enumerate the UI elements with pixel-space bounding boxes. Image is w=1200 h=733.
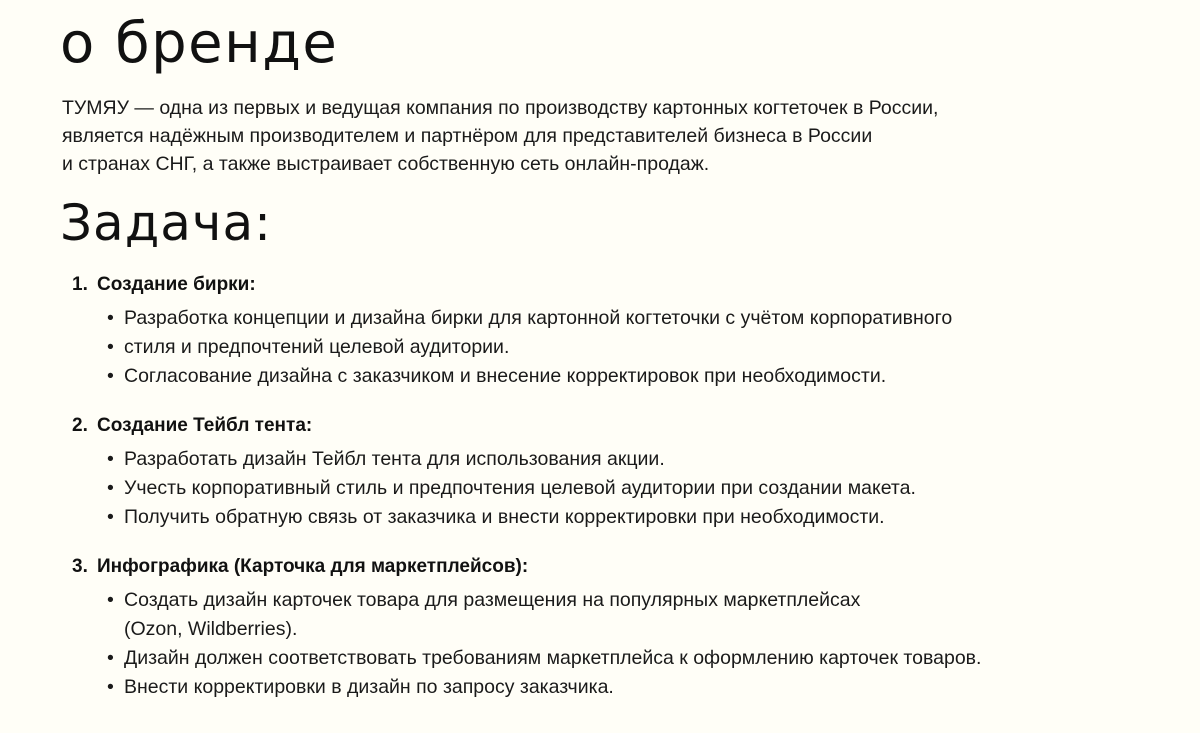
list-item: •Получить обратную связь от заказчика и … (107, 503, 1162, 532)
bullet-icon: • (107, 474, 114, 503)
task-bullet-list: •Создать дизайн карточек товара для разм… (62, 586, 1162, 702)
bullet-icon: • (107, 304, 114, 333)
bullet-icon: • (107, 586, 114, 615)
task-section-heading: 3.Инфографика (Карточка для маркетплейсо… (62, 554, 1162, 580)
task-section-title: Задача: (60, 194, 272, 252)
task-section: 2.Создание Тейбл тента:•Разработать диза… (62, 413, 1162, 532)
bullet-icon: • (107, 333, 114, 362)
task-section-heading: 2.Создание Тейбл тента: (62, 413, 1162, 439)
task-section-number: 2. (72, 413, 97, 439)
list-item: •Учесть корпоративный стиль и предпочтен… (107, 474, 1162, 503)
task-section-label: Создание бирки: (97, 272, 256, 298)
list-item: •Согласование дизайна с заказчиком и вне… (107, 362, 1162, 391)
bullet-icon: • (107, 644, 114, 673)
list-item-text: стиля и предпочтений целевой аудитории. (124, 333, 1162, 362)
list-item: •Создать дизайн карточек товара для разм… (107, 586, 1162, 644)
task-section-label: Создание Тейбл тента: (97, 413, 312, 439)
task-section-number: 3. (72, 554, 97, 580)
bullet-icon: • (107, 673, 114, 702)
task-list: 1.Создание бирки:•Разработка концепции и… (62, 272, 1162, 702)
list-item: •Дизайн должен соответствовать требовани… (107, 644, 1162, 673)
list-item-text: Внести корректировки в дизайн по запросу… (124, 673, 1162, 702)
list-item: •Внести корректировки в дизайн по запрос… (107, 673, 1162, 702)
list-item: •стиля и предпочтений целевой аудитории. (107, 333, 1162, 362)
bullet-icon: • (107, 445, 114, 474)
list-item: •Разработка концепции и дизайна бирки дл… (107, 304, 1162, 333)
list-item-text: Учесть корпоративный стиль и предпочтени… (124, 474, 1162, 503)
list-item-text: Разработать дизайн Тейбл тента для испол… (124, 445, 1162, 474)
page-title: о бренде (60, 13, 338, 75)
list-item-text: Разработка концепции и дизайна бирки для… (124, 304, 1162, 333)
list-item: •Разработать дизайн Тейбл тента для испо… (107, 445, 1162, 474)
list-item-text: Согласование дизайна с заказчиком и внес… (124, 362, 1162, 391)
list-item-text: Дизайн должен соответствовать требования… (124, 644, 1162, 673)
task-bullet-list: •Разработка концепции и дизайна бирки дл… (62, 304, 1162, 391)
bullet-icon: • (107, 362, 114, 391)
brand-description-paragraph: ТУМЯУ — одна из первых и ведущая компани… (62, 94, 1152, 178)
slide-page: о бренде ТУМЯУ — одна из первых и ведуща… (0, 0, 1200, 733)
task-section-heading: 1.Создание бирки: (62, 272, 1162, 298)
list-item-text: Создать дизайн карточек товара для разме… (124, 586, 1162, 644)
task-section: 3.Инфографика (Карточка для маркетплейсо… (62, 554, 1162, 702)
task-section-number: 1. (72, 272, 97, 298)
bullet-icon: • (107, 503, 114, 532)
task-section-label: Инфографика (Карточка для маркетплейсов)… (97, 554, 528, 580)
task-bullet-list: •Разработать дизайн Тейбл тента для испо… (62, 445, 1162, 532)
list-item-text: Получить обратную связь от заказчика и в… (124, 503, 1162, 532)
task-section: 1.Создание бирки:•Разработка концепции и… (62, 272, 1162, 391)
